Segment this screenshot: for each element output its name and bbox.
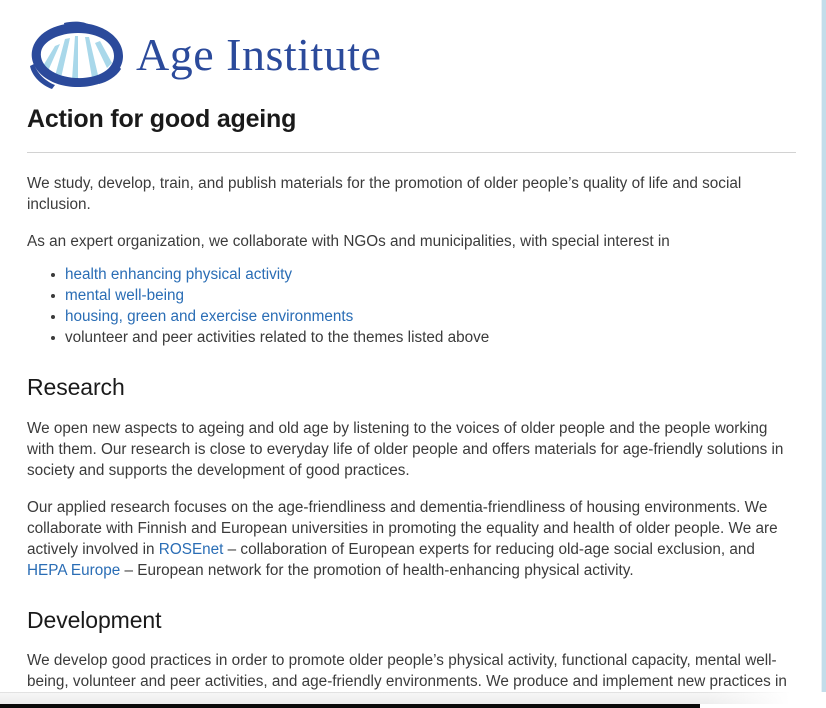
research-p2-text-3: – European network for the promotion of …: [120, 562, 633, 579]
scrollbar-fade: [706, 692, 826, 704]
topic-link-mental-wellbeing[interactable]: mental well-being: [65, 287, 184, 304]
section-heading-research: Research: [27, 374, 794, 402]
topic-link-physical-activity[interactable]: health enhancing physical activity: [65, 266, 292, 283]
browser-viewport: Age Institute Action for good ageing We …: [0, 0, 826, 708]
hepa-europe-link[interactable]: HEPA Europe: [27, 562, 120, 579]
shell-logo-icon: [28, 20, 128, 90]
scrollbar-thumb[interactable]: [0, 704, 700, 708]
page-edge-right: [822, 0, 826, 708]
section-heading-development: Development: [27, 607, 794, 635]
topic-link-housing-environments[interactable]: housing, green and exercise environments: [65, 308, 353, 325]
development-paragraph-1: We develop good practices in order to pr…: [27, 650, 794, 692]
list-item: mental well-being: [65, 285, 794, 306]
list-item: health enhancing physical activity: [65, 264, 794, 285]
horizontal-scrollbar[interactable]: [0, 692, 826, 708]
site-logo[interactable]: Age Institute: [27, 18, 794, 92]
topic-list: health enhancing physical activity menta…: [27, 264, 794, 348]
scrollbar-track[interactable]: [700, 704, 826, 708]
research-p2-text-2: – collaboration of European experts for …: [223, 541, 754, 558]
research-paragraph-1: We open new aspects to ageing and old ag…: [27, 418, 794, 481]
topic-text-volunteer-activities: volunteer and peer activities related to…: [65, 329, 489, 346]
intro-paragraph-2: As an expert organization, we collaborat…: [27, 231, 794, 252]
research-paragraph-2: Our applied research focuses on the age-…: [27, 497, 794, 581]
list-item: volunteer and peer activities related to…: [65, 327, 794, 348]
page-content: Age Institute Action for good ageing We …: [0, 0, 818, 692]
page-title: Action for good ageing: [27, 104, 794, 134]
rosenet-link[interactable]: ROSEnet: [159, 541, 224, 558]
intro-paragraph-1: We study, develop, train, and publish ma…: [27, 173, 794, 215]
list-item: housing, green and exercise environments: [65, 306, 794, 327]
title-divider: [27, 152, 796, 153]
logo-wordmark: Age Institute: [136, 32, 381, 78]
